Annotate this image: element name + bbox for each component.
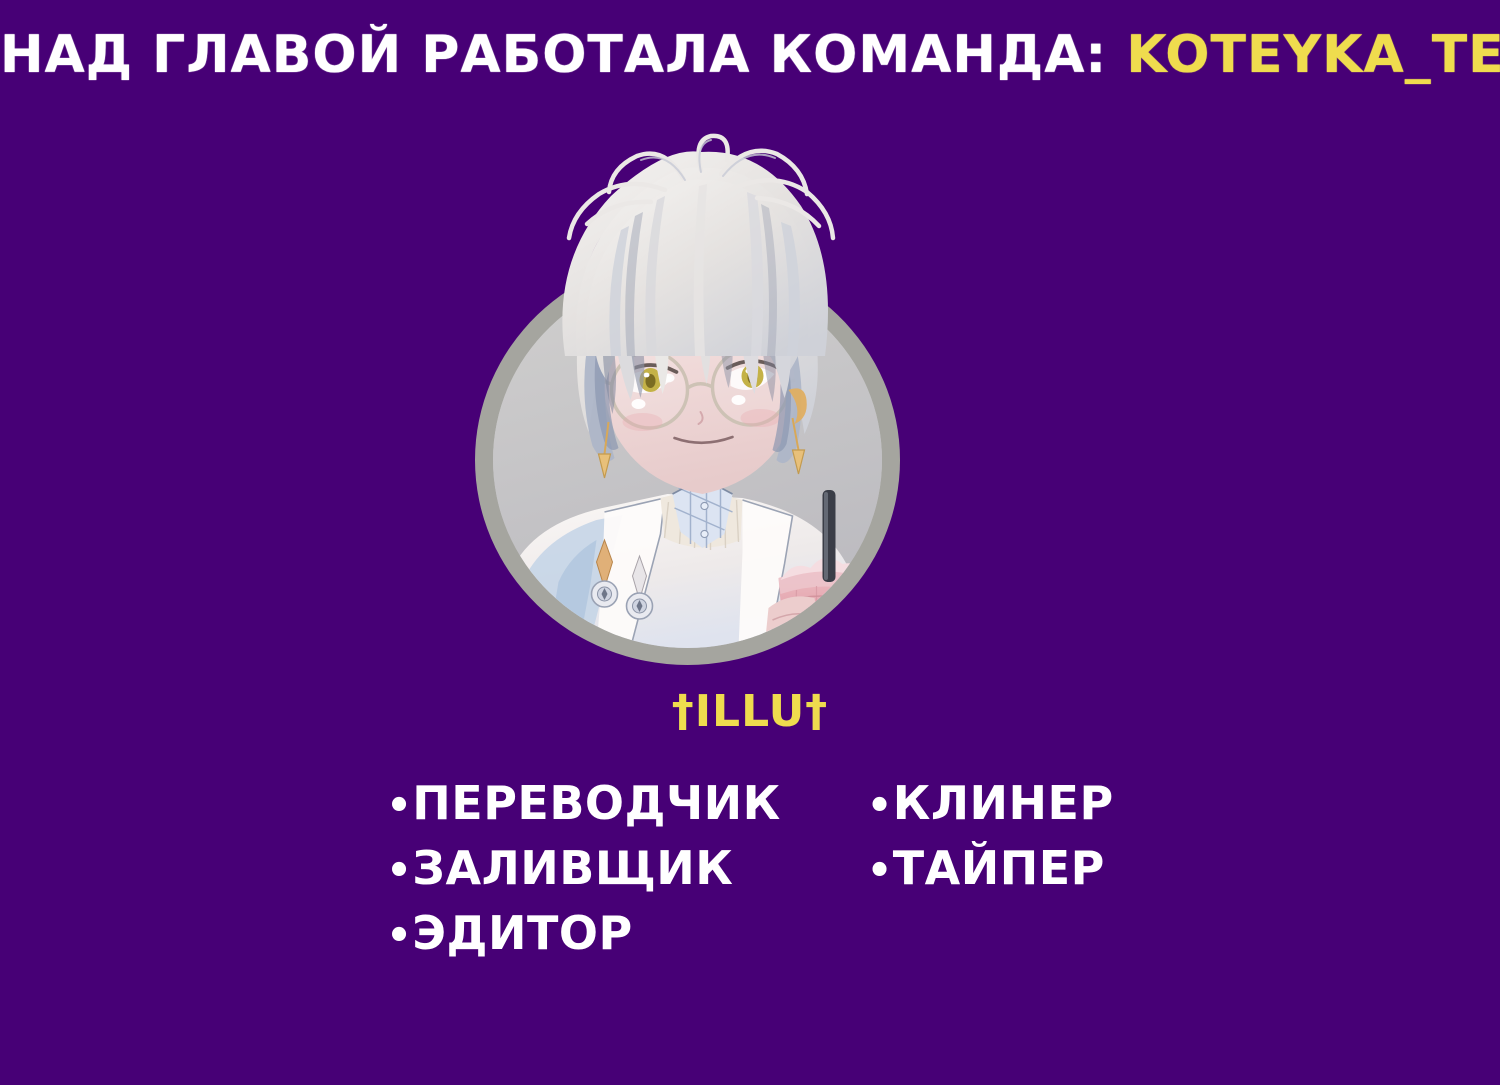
bullet-icon: •	[386, 905, 412, 967]
role-item: • ПЕРЕВОДЧИК	[386, 772, 780, 837]
page-title: НАД ГЛАВОЙ РАБОТАЛА КОМАНДА: KOTEYKA_TEA…	[0, 28, 1500, 83]
bullet-icon: •	[867, 775, 893, 837]
bullet-icon: •	[386, 775, 412, 837]
credits-page: НАД ГЛАВОЙ РАБОТАЛА КОМАНДА: KOTEYKA_TEA…	[0, 0, 1500, 1085]
page-title-prefix: НАД ГЛАВОЙ РАБОТАЛА КОМАНДА:	[0, 25, 1107, 85]
role-label: КЛИНЕР	[893, 772, 1114, 834]
character-illustration-icon	[493, 272, 882, 648]
role-item: • ТАЙПЕР	[867, 837, 1114, 902]
role-label: ТАЙПЕР	[893, 837, 1105, 899]
avatar	[470, 130, 910, 670]
roles-right-column: • КЛИНЕР • ТАЙПЕР	[867, 772, 1114, 902]
role-item: • КЛИНЕР	[867, 772, 1114, 837]
bullet-icon: •	[386, 840, 412, 902]
role-label: ЗАЛИВЩИК	[412, 837, 733, 899]
roles-left-column: • ПЕРЕВОДЧИК • ЗАЛИВЩИК • ЭДИТОР	[386, 772, 780, 967]
avatar-ring	[475, 255, 900, 665]
role-label: ПЕРЕВОДЧИК	[412, 772, 780, 834]
team-name: KOTEYKA_TEAM	[1126, 25, 1500, 85]
roles-section: • ПЕРЕВОДЧИК • ЗАЛИВЩИК • ЭДИТОР • КЛИНЕ…	[0, 772, 1500, 967]
artist-nickname: †ILLU†	[0, 686, 1500, 737]
bullet-icon: •	[867, 840, 893, 902]
avatar-image	[493, 272, 882, 648]
role-item: • ЭДИТОР	[386, 902, 780, 967]
role-label: ЭДИТОР	[412, 902, 632, 964]
role-item: • ЗАЛИВЩИК	[386, 837, 780, 902]
